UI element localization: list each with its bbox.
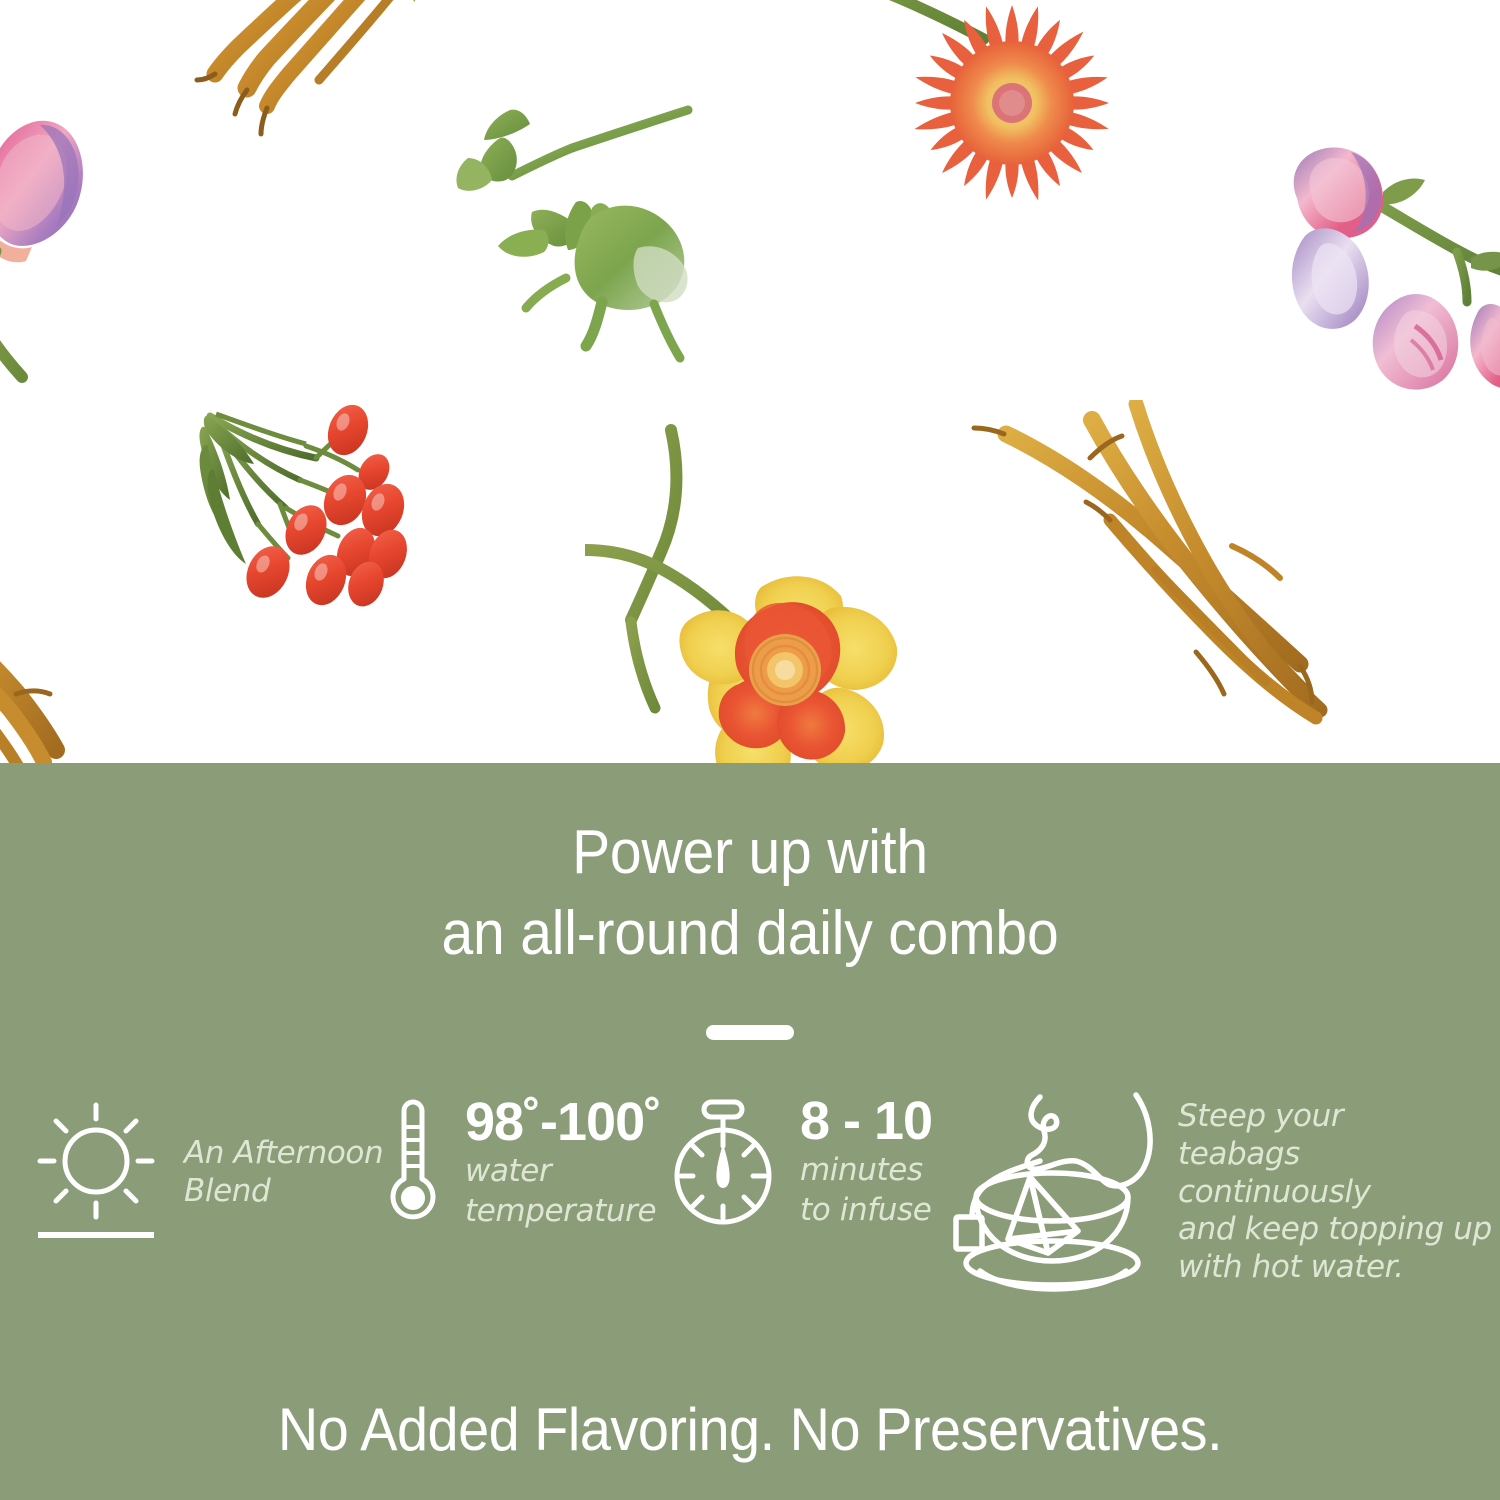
feature-time-text: 8 - 10 minutes to infuse [800,1093,932,1230]
feature-steep-label-line1: Steep your [1178,1098,1500,1136]
teacup-with-teabag-icon [944,1085,1164,1300]
feature-steep-label-line4: with hot water. [1178,1249,1500,1287]
feature-infuse-time: 8 - 10 minutes to infuse [668,1093,932,1230]
feature-afternoon-text: An Afternoon Blend [184,1135,383,1211]
feature-time-value: 8 - 10 [800,1093,932,1150]
ginseng-root-left-edge-illustration [0,600,130,763]
feature-time-label-line2: to infuse [800,1190,932,1230]
feature-steep-label-line3: and keep topping up [1178,1211,1500,1249]
goji-berry-sprig-illustration [180,400,480,630]
feature-steep-label-line2: teabags continuously [1178,1136,1500,1212]
white-pill-divider [706,1025,794,1040]
ginseng-root-bottom-illustration [960,400,1400,730]
product-infographic-page: Power up with an all-round daily combo [0,0,1500,1500]
feature-time-label-line1: minutes [800,1150,932,1190]
feature-water-temperature: 98˚-100˚ water temperature [383,1093,661,1233]
headline-line-1: Power up with [60,813,1440,894]
feature-afternoon-label-line2: Blend [184,1173,383,1211]
feature-steeping-instructions: Steep your teabags continuously and keep… [944,1085,1500,1300]
thermometer-icon [383,1093,443,1233]
feature-temp-value: 98˚-100˚ [465,1094,661,1151]
stopwatch-icon [668,1094,778,1229]
sweet-pea-bud-illustration [0,55,140,385]
green-bellflower-illustration [440,80,720,370]
feature-temp-label-line1: water [465,1151,661,1191]
feature-afternoon-label-line1: An Afternoon [184,1135,383,1173]
sweet-pea-blossoms-illustration [1265,140,1500,430]
calendula-flower-illustration [860,0,1160,235]
brewing-instructions-row: An Afternoon Blend 98˚-100˚ water temper… [0,1085,1500,1300]
feature-afternoon-blend: An Afternoon Blend [30,1093,383,1253]
sun-horizon-icon [30,1093,162,1253]
no-additives-claim: No Added Flavoring. No Preservatives. [53,1395,1448,1464]
botanical-ingredient-collage [0,0,1500,763]
headline-block: Power up with an all-round daily combo [60,813,1440,974]
feature-temp-label-line2: temperature [465,1191,661,1231]
headline-line-2: an all-round daily combo [60,894,1440,975]
feature-steep-text: Steep your teabags continuously and keep… [1178,1098,1500,1287]
yellow-marigold-flower-illustration [585,420,965,763]
feature-temp-text: 98˚-100˚ water temperature [465,1094,661,1231]
ginseng-root-top-illustration [185,0,415,190]
